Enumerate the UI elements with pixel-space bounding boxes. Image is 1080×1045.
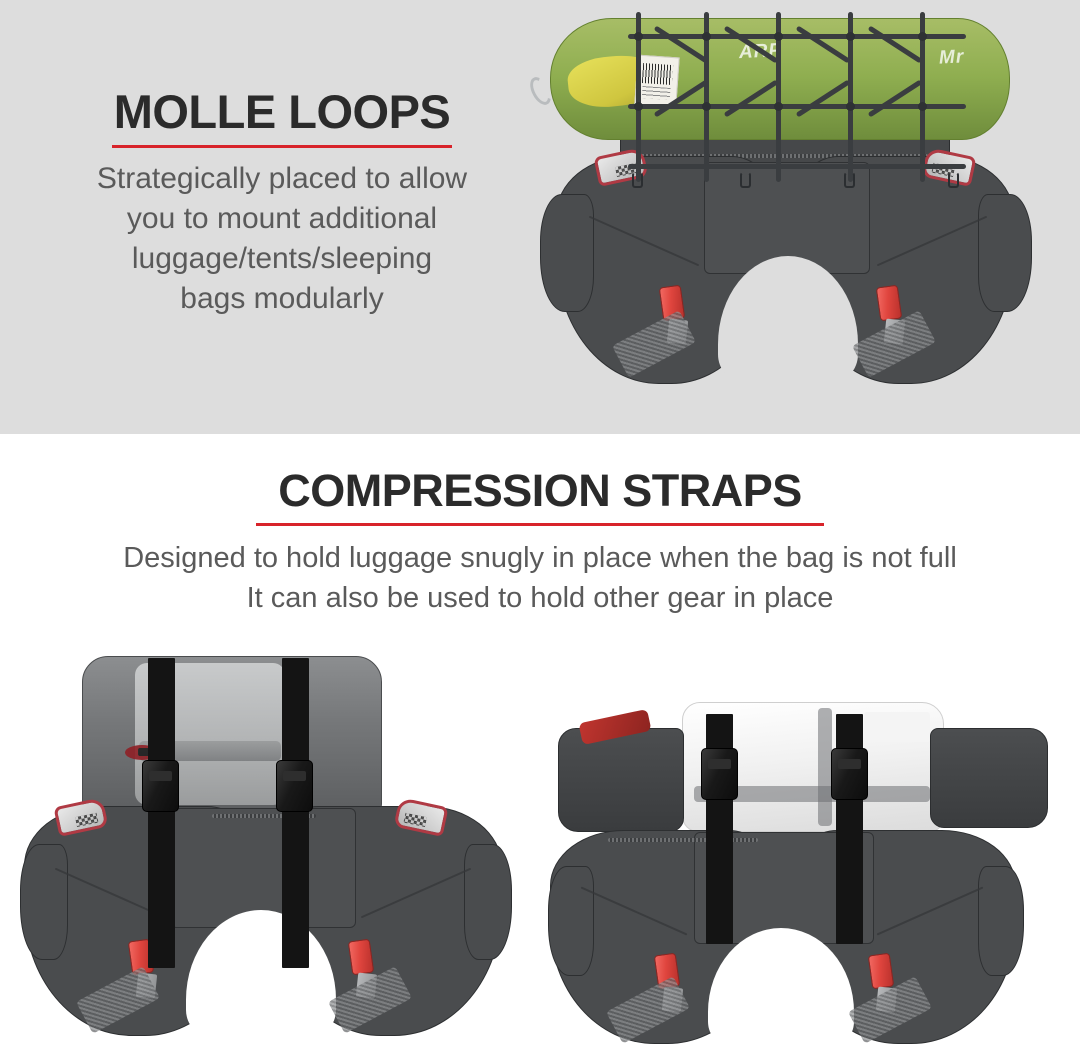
net-junction [634, 102, 643, 111]
molle-loops-body-line: you to mount additional [32, 199, 532, 239]
molle-loops-body-line: luggage/tents/sleeping [32, 239, 532, 279]
net-junction [846, 32, 855, 41]
strap-buckle-right [276, 760, 313, 812]
molle-loops-body-line: Strategically placed to allow [32, 159, 532, 199]
compression-straps-body-line: It can also be used to hold other gear i… [0, 578, 1080, 618]
net-junction [774, 32, 783, 41]
red-buckle-right [876, 285, 903, 322]
saddlebag-right-side-pocket [978, 194, 1032, 312]
jacket-panel-seam [818, 708, 832, 826]
net-cord-diagonal [654, 80, 709, 118]
strap-buckle-left [142, 760, 179, 812]
net-cord-diagonal [868, 26, 923, 64]
net-cord-diagonal [724, 80, 779, 118]
molle-loops-body: Strategically placed to allow you to mou… [32, 159, 532, 319]
compression-straps-body-line: Designed to hold luggage snugly in place… [0, 538, 1080, 578]
red-buckle-right [868, 953, 895, 990]
net-cord-diagonal [868, 80, 923, 118]
strap-buckle-left [701, 748, 738, 800]
saddlebag-right-side-pocket [978, 866, 1024, 976]
molle-loops-copy-block: MOLLE LOOPS Strategically placed to allo… [32, 88, 532, 319]
net-hook-icon [844, 172, 855, 188]
net-cord-diagonal [796, 26, 851, 64]
net-junction [918, 102, 927, 111]
net-cord-diagonal [654, 26, 709, 64]
jacket-right-sleeve [930, 728, 1048, 828]
net-junction [702, 102, 711, 111]
checkered-pattern-right [403, 813, 427, 827]
net-hook-icon [740, 172, 751, 188]
net-hook-icon [632, 172, 643, 188]
red-buckle-right [348, 939, 375, 976]
jacket-collar-tab [864, 712, 930, 742]
strap-buckle-right [831, 748, 868, 800]
compression-strap-right [282, 658, 309, 968]
compression-straps-body: Designed to hold luggage snugly in place… [0, 538, 1080, 618]
saddlebag-right-side-pocket [464, 844, 512, 960]
molle-loops-heading: MOLLE LOOPS [32, 88, 532, 136]
net-junction [918, 32, 927, 41]
net-junction [634, 32, 643, 41]
net-hook-icon [948, 172, 959, 188]
compression-straps-heading: COMPRESSION STRAPS [0, 468, 1080, 514]
product-photo-compression-left [20, 648, 540, 1045]
saddlebag-zipper [608, 838, 758, 842]
compression-straps-underline [256, 523, 824, 526]
product-photo-molle-loops: ARP Mr [528, 4, 1080, 416]
saddlebag-left-side-pocket [540, 194, 594, 312]
net-cord-diagonal [724, 26, 779, 64]
product-photo-compression-right [548, 688, 1048, 1045]
net-cord-diagonal [796, 80, 851, 118]
molle-loops-body-line: bags modularly [32, 279, 532, 319]
molle-loops-underline [112, 145, 452, 148]
saddlebag-left-side-pocket [548, 866, 594, 976]
grey-dry-bag [82, 656, 382, 816]
net-cord-horizontal [628, 104, 966, 109]
molle-loops-section: MOLLE LOOPS Strategically placed to allo… [0, 0, 1080, 434]
compression-strap-left [148, 658, 175, 968]
net-junction [774, 102, 783, 111]
net-cord-horizontal [628, 164, 966, 169]
compression-straps-copy-block: COMPRESSION STRAPS Designed to hold lugg… [0, 468, 1080, 618]
net-cord-horizontal [628, 34, 966, 39]
saddlebag-left-side-pocket [20, 844, 68, 960]
bungee-cargo-net [628, 12, 968, 192]
checkered-pattern-left [75, 813, 99, 827]
jacket-left-sleeve [558, 728, 684, 832]
net-junction [846, 102, 855, 111]
net-junction [702, 32, 711, 41]
